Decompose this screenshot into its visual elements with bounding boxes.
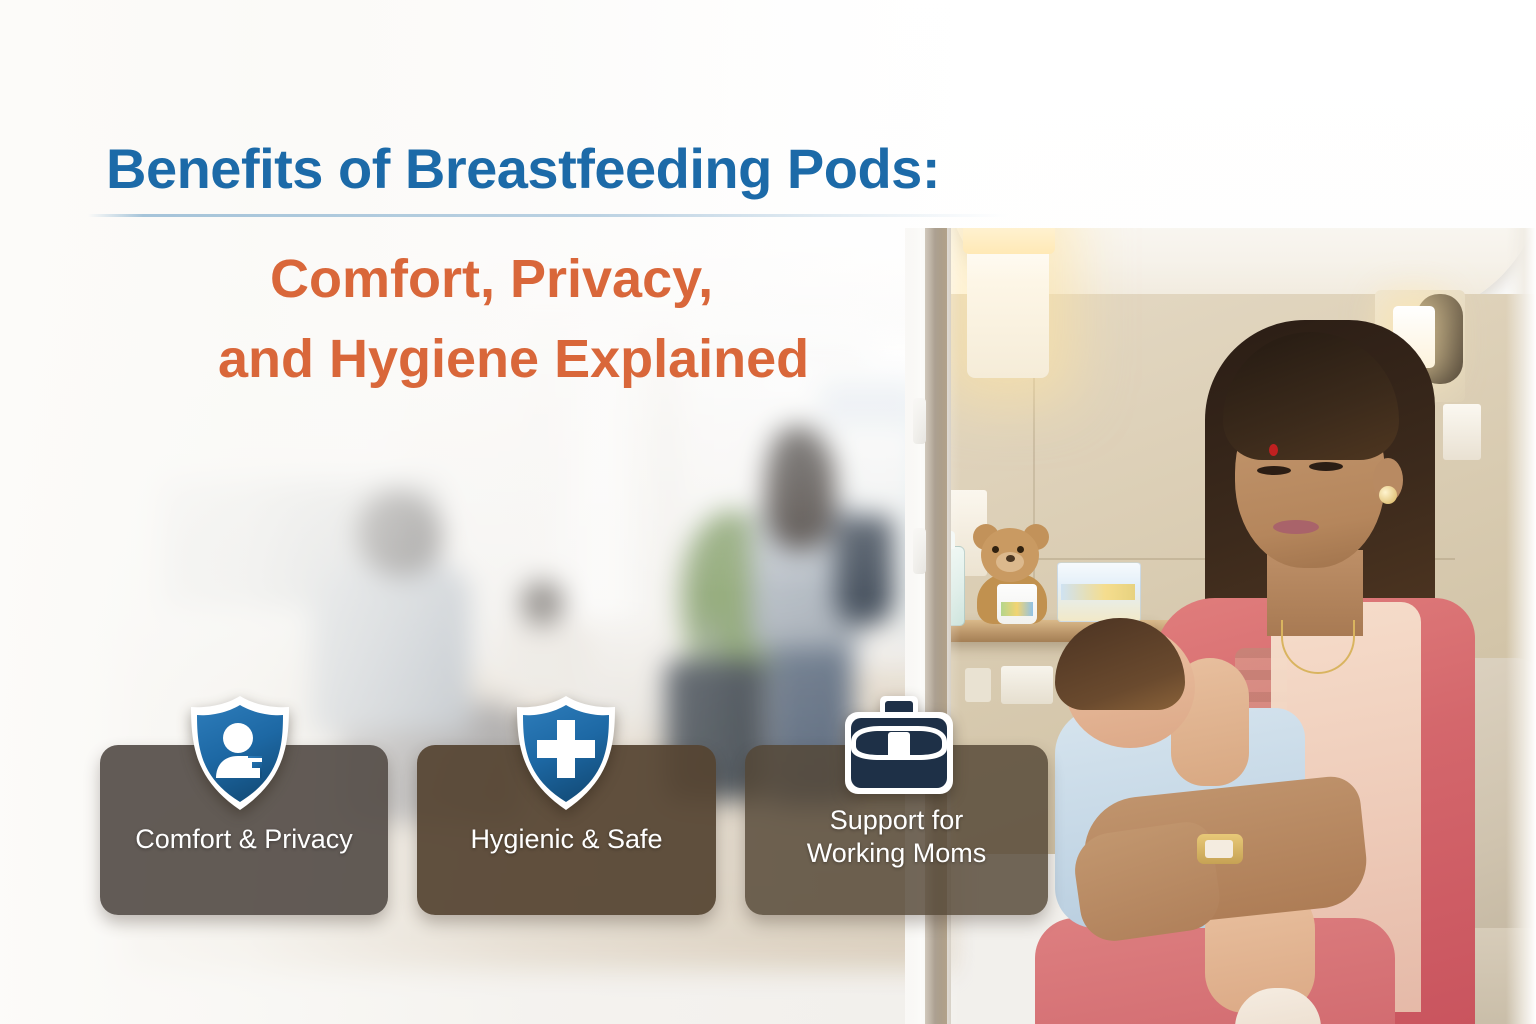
page-subtitle-line-1: Comfort, Privacy,	[270, 248, 713, 310]
teddy-eye	[992, 546, 999, 553]
pod-right-soft-edge	[1506, 228, 1536, 1024]
page-subtitle-line-2: and Hygiene Explained	[218, 328, 809, 390]
teddy-eye	[1017, 546, 1024, 553]
pod-light-switch	[1443, 404, 1481, 460]
mother-bindi	[1269, 444, 1278, 456]
wristwatch-face	[1205, 840, 1233, 858]
pod-left-lamp-head	[963, 228, 1055, 254]
title-divider	[88, 214, 1008, 217]
poster-canvas: Benefits of Breastfeeding Pods: Comfort,…	[0, 0, 1536, 1024]
mother-eye	[1257, 466, 1291, 475]
benefit-card-label: Hygienic & Safe	[417, 823, 716, 856]
briefcase-icon	[840, 690, 958, 802]
wipes-box-label	[1061, 584, 1135, 600]
mother-lips	[1273, 520, 1319, 534]
shield-cross-icon	[512, 694, 620, 812]
pod-power-outlet	[1001, 666, 1053, 704]
shield-person-icon	[186, 694, 294, 812]
page-title: Benefits of Breastfeeding Pods:	[106, 136, 940, 201]
mother-eye	[1309, 462, 1343, 471]
pod-power-outlet	[965, 668, 991, 702]
benefit-card-label-line-1: Support for	[745, 804, 1048, 837]
benefit-card-label-line-2: Working Moms	[745, 837, 1048, 870]
mother-earring	[1379, 486, 1397, 504]
paper-cup-print	[1001, 602, 1033, 616]
teddy-nose	[1006, 555, 1015, 562]
benefit-card-label: Comfort & Privacy	[100, 823, 388, 856]
